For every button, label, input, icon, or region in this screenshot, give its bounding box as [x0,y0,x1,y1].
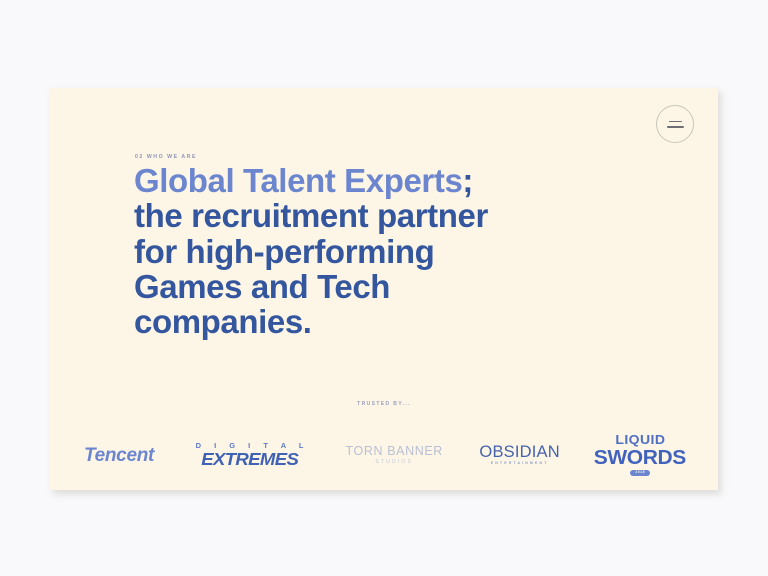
headline-line-3: for high-performing [134,234,488,269]
logo-obsidian-bottom: ENTERTAINMENT [491,462,549,466]
headline-line-5: companies. [134,304,488,339]
headline-line-2: the recruitment partner [134,198,488,233]
logo-liquid-swords-top: LIQUID [615,434,665,447]
logo-tencent[interactable]: Tencent [84,446,154,465]
headline-line-4: Games and Tech [134,269,488,304]
logo-tencent-wordmark: Tencent [84,446,154,465]
logo-liquid-swords-badge: 2018 [630,470,650,476]
logo-obsidian-top: OBSIDIAN [479,444,559,461]
menu-icon-bar-bottom [667,126,684,128]
headline-accent-tail: ; [462,162,473,199]
headline-line-1: Global Talent Experts; [134,163,488,198]
logo-digital-extremes[interactable]: D I G I T A L EXTREMES [191,442,309,468]
menu-icon-bar-top [669,121,682,123]
trusted-by-label: TRUSTED BY... [50,401,718,407]
site-card: 02 WHO WE ARE Global Talent Experts; the… [50,88,718,490]
page-title: Global Talent Experts; the recruitment p… [134,163,488,339]
logo-digital-extremes-bottom: EXTREMES [201,451,298,469]
logo-torn-banner-bottom: STUDIOS [375,460,413,465]
logo-liquid-swords[interactable]: LIQUID SWORDS 2018 [596,434,684,476]
logo-liquid-swords-middle: SWORDS [594,448,686,468]
trusted-logo-strip: Tencent D I G I T A L EXTREMES TORN BANN… [70,426,698,484]
section-eyebrow-label: 02 WHO WE ARE [135,154,197,160]
logo-torn-banner[interactable]: TORN BANNER STUDIOS [346,445,443,466]
menu-button[interactable] [656,105,694,143]
headline-accent: Global Talent Experts [134,162,462,199]
logo-torn-banner-top: TORN BANNER [346,445,443,458]
logo-obsidian[interactable]: OBSIDIAN ENTERTAINMENT [479,444,559,466]
